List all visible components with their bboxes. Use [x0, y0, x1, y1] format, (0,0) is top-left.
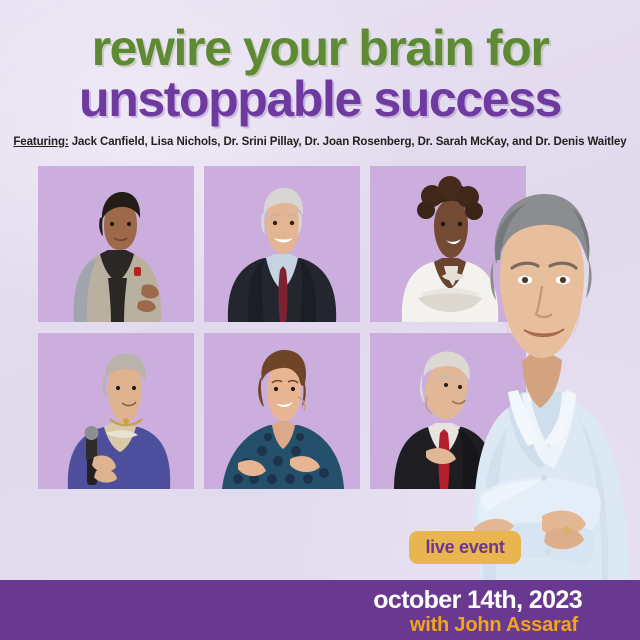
- speaker-portrait-2: [204, 166, 360, 322]
- speaker-tile-5: [204, 333, 360, 489]
- featuring-label: Featuring:: [13, 136, 68, 148]
- event-host-line: with John Assaraf: [410, 614, 578, 637]
- featuring-names: Jack Canfield, Lisa Nichols, Dr. Srini P…: [69, 136, 627, 148]
- event-poster: rewire your brain for unstoppable succes…: [0, 0, 640, 640]
- live-event-label: live event: [425, 537, 504, 558]
- featuring-line: Featuring: Jack Canfield, Lisa Nichols, …: [0, 136, 640, 148]
- host-portrait-john-assaraf: [422, 160, 640, 580]
- speaker-tile-4: [38, 333, 194, 489]
- event-date: october 14th, 2023: [373, 586, 582, 615]
- headline-line-1: rewire your brain for: [0, 24, 640, 73]
- bottom-bar: october 14th, 2023 with John Assaraf: [0, 580, 640, 640]
- live-event-badge: live event: [409, 531, 521, 564]
- speaker-portrait-5: [204, 333, 360, 489]
- speaker-tile-2: [204, 166, 360, 322]
- speaker-portrait-4: [38, 333, 194, 489]
- headline-line-2: unstoppable success: [0, 75, 640, 124]
- headline: rewire your brain for unstoppable succes…: [0, 24, 640, 124]
- speaker-tile-1: [38, 166, 194, 322]
- speaker-portrait-1: [38, 166, 194, 322]
